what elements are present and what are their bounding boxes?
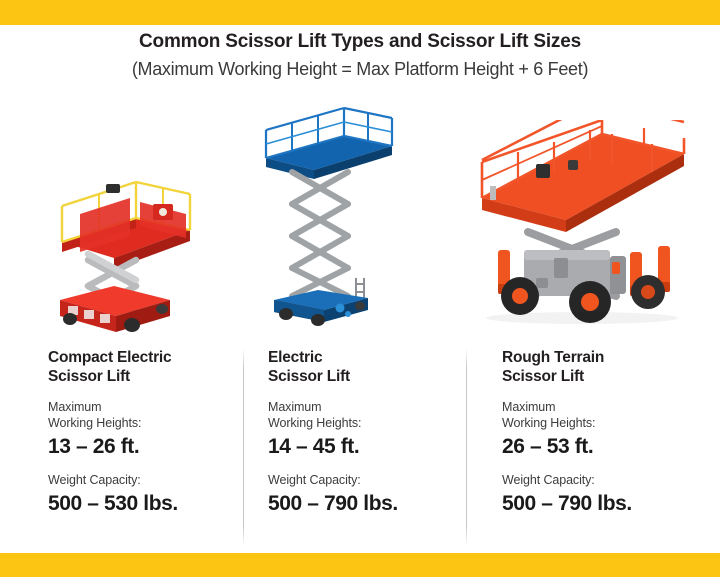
top-accent-bar [0, 0, 720, 25]
column-3-title-line2: Scissor Lift [502, 368, 584, 385]
column-2-height-label-line2: Working Heights: [268, 416, 361, 430]
compact-electric-scissor-lift-image [40, 110, 230, 335]
column-1-height-label-line2: Working Heights: [48, 416, 141, 430]
column-2-title-line1: Electric [268, 349, 322, 366]
column-3-title: Rough Terrain Scissor Lift [502, 348, 702, 386]
column-2-weight-label: Weight Capacity: [268, 472, 468, 488]
illustrations [0, 100, 720, 335]
column-2-height-label: Maximum Working Heights: [268, 399, 468, 431]
rough-terrain-scissor-lift-image [462, 120, 702, 325]
column-1-height-value: 13 – 26 ft. [48, 434, 248, 460]
infographic-page: Common Scissor Lift Types and Scissor Li… [0, 0, 720, 577]
column-1-weight-value: 500 – 530 lbs. [48, 491, 248, 517]
column-rough-terrain: Rough Terrain Scissor Lift Maximum Worki… [502, 348, 702, 517]
column-3-height-value: 26 – 53 ft. [502, 434, 702, 460]
page-subtitle: (Maximum Working Height = Max Platform H… [0, 56, 720, 82]
column-1-title-line2: Scissor Lift [48, 368, 130, 385]
compact-electric-lift-icon [40, 110, 230, 335]
column-3-height-label: Maximum Working Heights: [502, 399, 702, 431]
bottom-accent-bar [0, 553, 720, 577]
column-3-height-label-line1: Maximum [502, 400, 555, 414]
column-3-title-line1: Rough Terrain [502, 349, 604, 366]
electric-scissor-lift-image [252, 100, 402, 335]
column-3-weight-value: 500 – 790 lbs. [502, 491, 702, 517]
page-title: Common Scissor Lift Types and Scissor Li… [0, 30, 720, 54]
column-electric: Electric Scissor Lift Maximum Working He… [268, 348, 468, 517]
column-3-weight-label: Weight Capacity: [502, 472, 702, 488]
column-1-title-line1: Compact Electric [48, 349, 171, 366]
column-2-height-label-line1: Maximum [268, 400, 321, 414]
electric-lift-icon [252, 100, 402, 335]
column-compact-electric: Compact Electric Scissor Lift Maximum Wo… [48, 348, 248, 517]
column-1-height-label: Maximum Working Heights: [48, 399, 248, 431]
column-3-height-label-line2: Working Heights: [502, 416, 595, 430]
column-2-title-line2: Scissor Lift [268, 368, 350, 385]
column-1-title: Compact Electric Scissor Lift [48, 348, 248, 386]
column-1-weight-label: Weight Capacity: [48, 472, 248, 488]
column-2-height-value: 14 – 45 ft. [268, 434, 468, 460]
column-2-weight-value: 500 – 790 lbs. [268, 491, 468, 517]
rough-terrain-lift-icon [462, 120, 702, 325]
column-1-height-label-line1: Maximum [48, 400, 101, 414]
header: Common Scissor Lift Types and Scissor Li… [0, 30, 720, 82]
column-2-title: Electric Scissor Lift [268, 348, 468, 386]
